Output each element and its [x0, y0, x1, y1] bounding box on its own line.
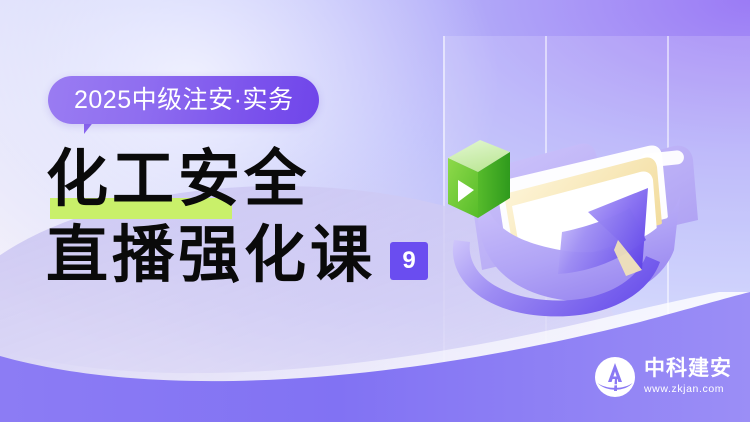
headline-line-1: 化工安全	[46, 148, 466, 210]
episode-number-label: 9	[402, 249, 415, 273]
course-banner: 2025中级注安·实务 化工安全 直播强化课 9 中科建安 www.zkjan.…	[0, 0, 750, 422]
brand-logo[interactable]: 中科建安 www.zkjan.com	[594, 356, 732, 398]
episode-number-badge: 9	[390, 242, 428, 280]
headline-line-1-text: 化工安全	[46, 142, 310, 215]
logo-website-url: www.zkjan.com	[644, 382, 732, 397]
logo-company-name: 中科建安	[644, 358, 732, 380]
logo-text-block: 中科建安 www.zkjan.com	[644, 358, 732, 397]
headline-line-2: 直播强化课 9	[46, 224, 466, 286]
headline-line-2-text: 直播强化课	[46, 224, 376, 286]
badge-label: 2025中级注安·实务	[74, 88, 293, 113]
course-category-badge: 2025中级注安·实务	[48, 76, 319, 124]
headline-block: 化工安全 直播强化课 9	[46, 148, 466, 286]
zkjan-monogram-icon	[594, 356, 636, 398]
